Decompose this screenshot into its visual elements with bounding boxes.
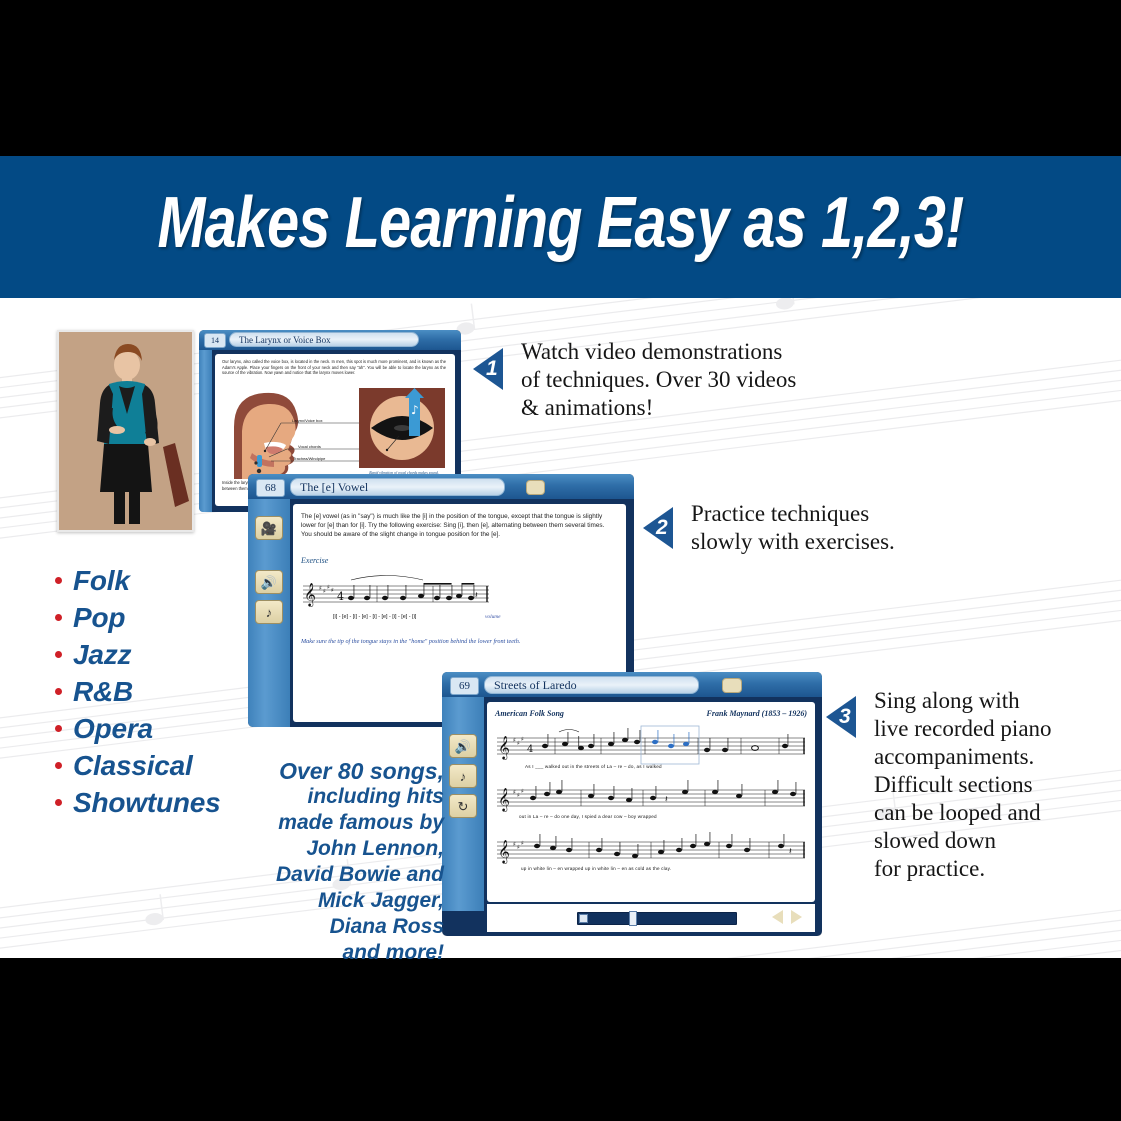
exercise-label: Exercise <box>301 556 328 565</box>
genre-list: Folk Pop Jazz R&B Opera Classical Showtu… <box>55 562 221 821</box>
callout-line: slowed down <box>874 827 1121 855</box>
blurb-line: Mick Jagger, <box>230 888 444 914</box>
svg-text:𝄞: 𝄞 <box>304 582 316 607</box>
prev-button[interactable] <box>772 910 783 924</box>
genre-item: Pop <box>55 599 221 636</box>
callout-text-2: Practice techniques slowly with exercise… <box>691 500 981 556</box>
svg-text:♯: ♯ <box>517 792 520 799</box>
progress-handle[interactable] <box>629 911 637 926</box>
callout-number-3: 3 <box>839 706 851 727</box>
bullet-icon <box>55 577 62 584</box>
genre-label: Classical <box>73 750 193 782</box>
lyric-line-3: up in white lin – en wrapped up in white… <box>521 866 671 871</box>
svg-text:𝄞: 𝄞 <box>498 839 510 864</box>
bullet-icon <box>55 688 62 695</box>
svg-text:♯: ♯ <box>513 789 516 796</box>
composer-credit: Frank Maynard (1853 – 1926) <box>707 709 807 718</box>
blurb-line: David Bowie and <box>230 862 444 888</box>
blurb-line: Over 80 songs, <box>230 758 444 784</box>
loop-icon[interactable]: ↻ <box>449 794 477 818</box>
callout-line: of techniques. Over 30 videos <box>521 366 851 394</box>
title-badge[interactable] <box>526 480 545 495</box>
svg-text:4: 4 <box>527 744 533 755</box>
bullet-icon <box>55 614 62 621</box>
svg-text:𝄞: 𝄞 <box>498 787 510 812</box>
video-icon[interactable]: 🎥 <box>255 516 283 540</box>
music-note-icon[interactable]: ♪ <box>255 600 283 624</box>
svg-text:𝄞: 𝄞 <box>498 735 510 760</box>
svg-text:♯: ♯ <box>319 585 322 592</box>
genre-item: Folk <box>55 562 221 599</box>
speaker-icon[interactable]: 🔊 <box>255 570 283 594</box>
blurb-line: including hits <box>230 784 444 810</box>
svg-text:4: 4 <box>337 590 344 603</box>
callout-line: Difficult sections <box>874 771 1121 799</box>
genre-label: R&B <box>73 676 133 708</box>
screen-title: The [e] Vowel <box>290 478 505 496</box>
genre-label: Pop <box>73 602 125 634</box>
exercise-staff: 𝄞 ♯♯♯♯ 4 <box>299 568 499 614</box>
callout-number-2: 2 <box>656 517 668 538</box>
page-title: Makes Learning Easy as 1,2,3! <box>112 182 1009 264</box>
svg-text:♯: ♯ <box>323 588 326 595</box>
progress-track[interactable] <box>577 912 737 925</box>
page-number-field: 69 <box>450 677 479 695</box>
genre-item: Jazz <box>55 636 221 673</box>
callout-number-1: 1 <box>486 358 498 379</box>
callout-line: live recorded piano <box>874 715 1121 743</box>
svg-text:♯: ♯ <box>331 587 334 594</box>
diagram-label-trachea: Trachea/Windpipe <box>293 456 325 461</box>
instructor-photo <box>57 330 194 532</box>
callout-line: accompaniments. <box>874 743 1121 771</box>
callout-text-1: Watch video demonstrations of techniques… <box>521 338 851 422</box>
svg-text:♯: ♯ <box>521 736 524 743</box>
bullet-icon <box>55 651 62 658</box>
page-canvas: American Folk Song Frank Maynard (1853 –… <box>487 702 815 902</box>
svg-text:♯: ♯ <box>513 737 516 744</box>
blurb-line: John Lennon, <box>230 836 444 862</box>
music-note-icon[interactable]: ♪ <box>449 764 477 788</box>
speaker-icon[interactable]: 🔊 <box>449 734 477 758</box>
callout-line: Sing along with <box>874 687 1121 715</box>
callout-line: slowly with exercises. <box>691 528 981 556</box>
genre-label: Folk <box>73 565 130 597</box>
svg-text:♯: ♯ <box>513 841 516 848</box>
genre-item: Classical <box>55 747 221 784</box>
lesson-paragraph: Our larynx, also called the voice box, i… <box>222 359 446 376</box>
screen-title: The Larynx or Voice Box <box>229 332 419 347</box>
title-badge[interactable] <box>722 678 742 693</box>
sidebar <box>199 350 212 512</box>
blurb-line: Diana Ross <box>230 914 444 940</box>
callout-line: Watch video demonstrations <box>521 338 851 366</box>
songs-blurb: Over 80 songs, including hits made famou… <box>230 758 444 966</box>
genre-item: Opera <box>55 710 221 747</box>
letterbox-top <box>0 0 1121 156</box>
diagram-label-vocal-chords: Vocal chords <box>298 444 321 449</box>
genre-item: Showtunes <box>55 784 221 821</box>
svg-text:♯: ♯ <box>521 840 524 847</box>
next-button[interactable] <box>791 910 802 924</box>
blurb-line: made famous by <box>230 810 444 836</box>
bullet-icon <box>55 799 62 806</box>
lyric-line-1: As I ___ walked out in the streets of La… <box>525 764 662 769</box>
callout-text-3: Sing along with live recorded piano acco… <box>874 687 1121 883</box>
poster-stage: Makes Learning Easy as 1,2,3! <box>0 0 1121 1121</box>
lyric-line-2: out in La – re – do one day, I spied a d… <box>519 814 657 819</box>
bullet-icon <box>55 762 62 769</box>
syllable-row: [i] - [e] - [i] - [e] - [i] - [e] - [i] … <box>333 614 416 620</box>
diagram-label-larynx: Larynx/Voice box <box>292 418 322 423</box>
genre-label: Showtunes <box>73 787 221 819</box>
page-number-field: 14 <box>204 333 226 348</box>
callout-line: Practice techniques <box>691 500 981 528</box>
page-number-field: 68 <box>256 479 285 497</box>
genre-credit: American Folk Song <box>495 709 564 718</box>
svg-text:♯: ♯ <box>517 844 520 851</box>
svg-text:♪: ♪ <box>411 403 419 417</box>
exercise-note: Make sure the tip of the tongue stays in… <box>301 638 617 645</box>
svg-text:𝄽: 𝄽 <box>789 847 792 857</box>
vocal-chord-diagram: ♪ <box>359 388 445 468</box>
svg-text:𝄽: 𝄽 <box>475 591 478 601</box>
callout-line: can be looped and <box>874 799 1121 827</box>
screen-title: Streets of Laredo <box>484 676 699 694</box>
genre-item: R&B <box>55 673 221 710</box>
callout-line: & animations! <box>521 394 851 422</box>
genre-label: Jazz <box>73 639 131 671</box>
progress-start-marker <box>579 914 588 923</box>
svg-text:♯: ♯ <box>327 584 330 591</box>
bullet-icon <box>55 725 62 732</box>
svg-text:♯: ♯ <box>521 788 524 795</box>
screen-streets-of-laredo[interactable]: 69 Streets of Laredo 🔊 ♪ ↻ American Folk… <box>442 672 822 936</box>
blurb-line: and more! <box>230 940 444 966</box>
volume-label: volume <box>485 614 501 620</box>
letterbox-bottom <box>0 958 1121 1121</box>
genre-label: Opera <box>73 713 153 745</box>
callout-line: for practice. <box>874 855 1121 883</box>
svg-text:♯: ♯ <box>517 740 520 747</box>
lesson-paragraph: The [e] vowel (as in "say") is much like… <box>301 512 611 539</box>
svg-text:𝄽: 𝄽 <box>665 795 668 805</box>
